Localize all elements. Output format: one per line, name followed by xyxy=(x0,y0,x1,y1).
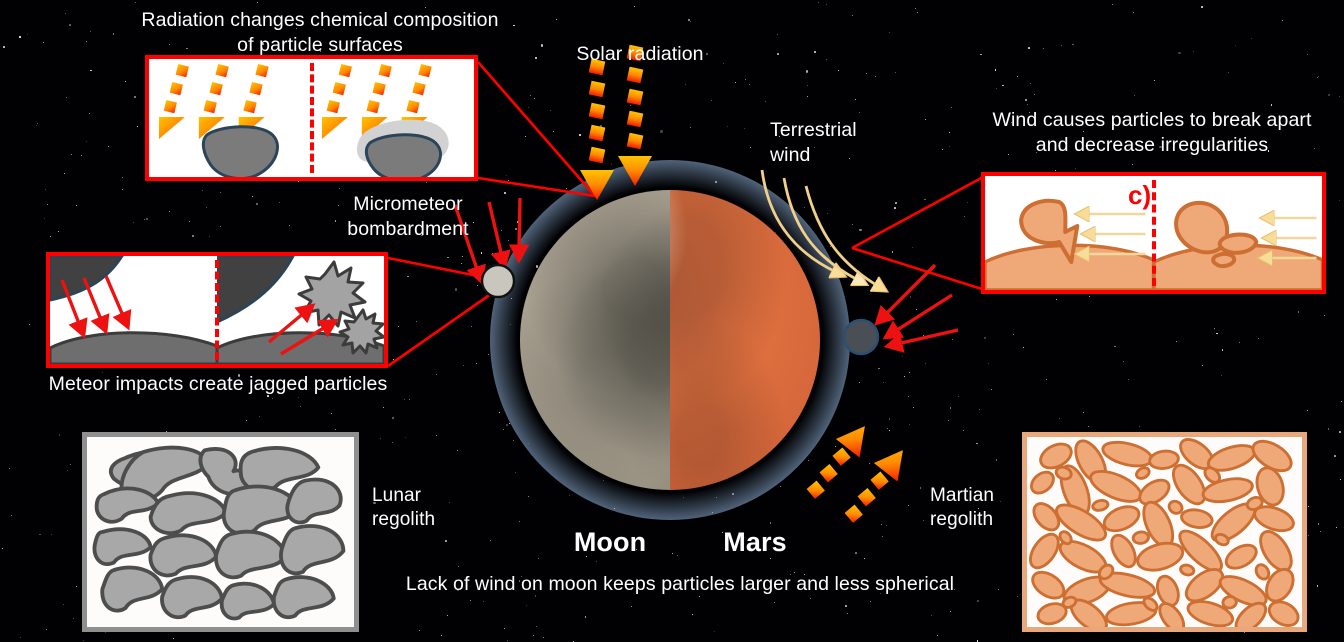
lunar-regolith-label: Lunar regolith xyxy=(372,484,482,532)
radiation-panel-divider xyxy=(310,63,314,173)
micrometeor-after-half xyxy=(217,256,384,364)
mars-hemisphere xyxy=(670,190,820,490)
micrometeor-before-half xyxy=(50,256,217,364)
solar-radiation-label: Solar radiation xyxy=(520,42,760,67)
micrometeor-panel-divider xyxy=(215,260,219,360)
moon-mars-globe xyxy=(520,190,820,490)
wind-panel-divider xyxy=(1152,180,1156,286)
wind-inset-panel: c) xyxy=(981,172,1326,294)
diagram-canvas: Radiation changes chemical composition o… xyxy=(0,0,1344,642)
lunar-regolith-particles xyxy=(87,437,354,627)
bottom-caption: Lack of wind on moon keeps particles lar… xyxy=(380,572,980,597)
micrometeor-panel-caption: Meteor impacts create jagged particles xyxy=(32,372,404,397)
leader-line-radiation xyxy=(478,62,595,196)
radiation-inset-panel xyxy=(145,55,478,181)
wind-before-half xyxy=(985,176,1154,290)
martian-regolith-particles xyxy=(1027,437,1302,627)
leader-line-wind xyxy=(852,176,985,290)
radiation-panel-caption: Radiation changes chemical composition o… xyxy=(130,8,510,58)
micrometeor-inset-panel xyxy=(46,252,388,368)
radiation-before-half xyxy=(149,59,312,177)
terrestrial-wind-label: Terrestrial wind xyxy=(770,118,920,168)
martian-regolith-label: Martian regolith xyxy=(930,484,1040,532)
wind-panel-caption: Wind causes particles to break apart and… xyxy=(960,108,1344,158)
martian-regolith-box xyxy=(1022,432,1307,632)
micrometeor-label: Micrometeor bombardment xyxy=(300,192,516,242)
wind-after-half xyxy=(1154,176,1323,290)
moon-label: Moon xyxy=(540,527,680,557)
mars-label: Mars xyxy=(690,527,820,557)
mars-meteor-arrows xyxy=(884,265,958,344)
moon-hemisphere xyxy=(520,190,670,490)
radiation-after-half xyxy=(312,59,475,177)
lunar-regolith-box xyxy=(82,432,359,632)
